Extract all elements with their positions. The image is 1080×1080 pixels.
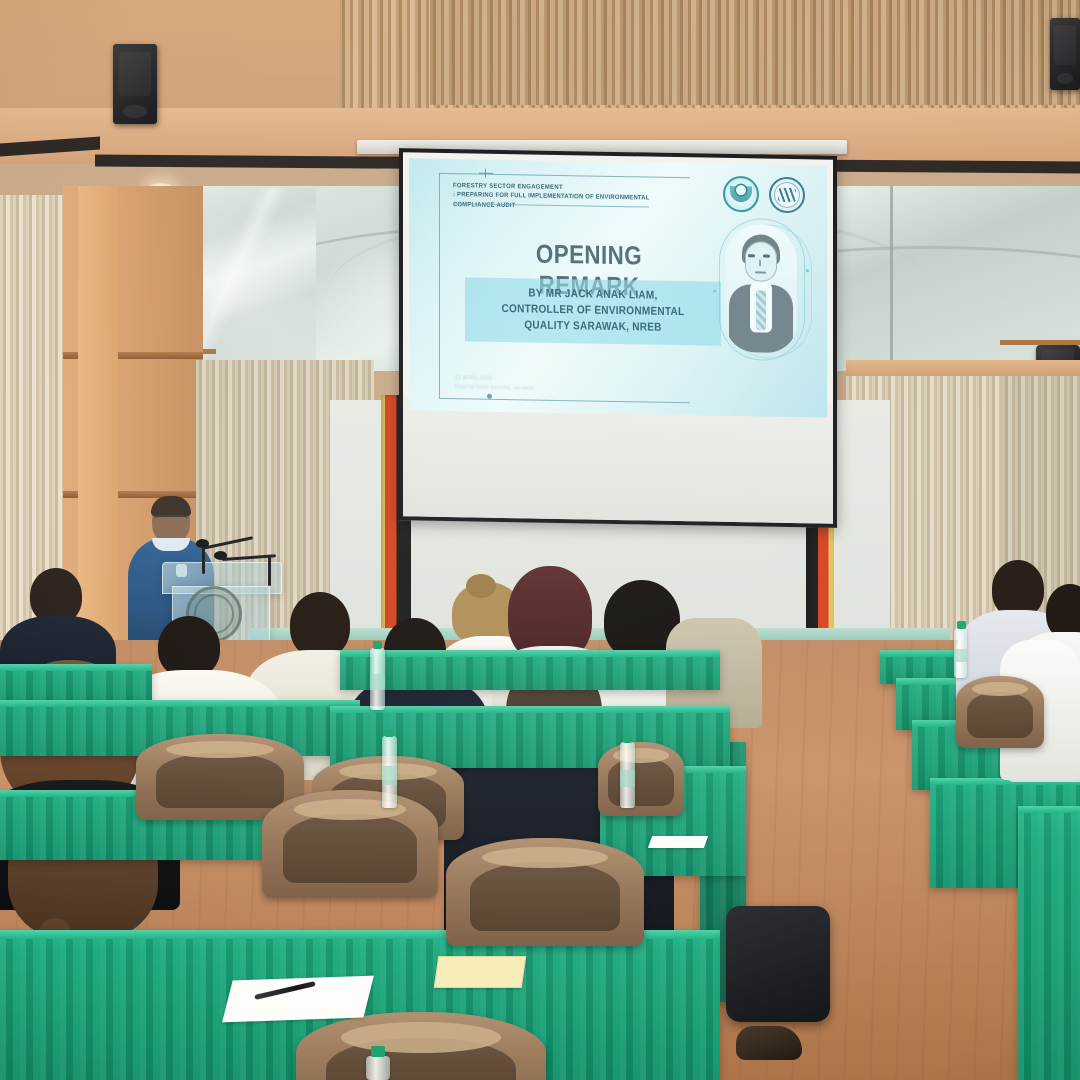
chair-row-b-1 [262,790,438,898]
forestry-dept-logo-icon [769,177,805,214]
slide-tick-top [479,173,493,174]
name-card[interactable] [434,956,526,988]
portrait-face [745,241,777,282]
microphone-gooseneck-2 [268,556,271,586]
ceiling-wood-slats-upper [430,0,1080,105]
speaker-bracket-right [1000,340,1080,345]
shoe [736,1026,802,1060]
water-bottle-4[interactable] [954,628,967,678]
portrait-mouth [755,271,766,273]
nreb-logo-icon [723,176,759,213]
chair-row-b-2 [446,838,644,946]
portrait-tie [756,290,766,330]
portrait-eye-right [763,255,770,258]
wall-speaker-top-right [1050,18,1080,90]
note-paper-2[interactable] [648,836,708,848]
water-bottle-3[interactable] [620,742,635,808]
portrait-illustration [725,224,797,353]
chair-row-a-3 [598,742,684,816]
slide-portrait [713,216,809,368]
note-paper[interactable] [222,976,374,1023]
water-bottle-1[interactable] [370,648,385,710]
microphone-gooseneck-1 [202,548,205,574]
table-row-right-5 [1018,806,1080,1080]
water-bottle-2[interactable] [382,736,397,808]
bag-on-floor [726,906,830,1022]
presenter-glasses [154,515,188,524]
microphone-head-1 [196,539,209,548]
pillar-left-inner [78,186,118,676]
microphone-head-2 [214,551,227,560]
slide-tick-top-v [485,169,486,178]
chair-foreground [296,1012,546,1080]
slide-tick-bottom [487,394,492,399]
conference-hall-photo: FORESTRY SECTOR ENGAGEMENT : PREPARING F… [0,0,1080,1080]
wall-speaker-top-left [113,44,157,124]
slide-speaker-box: BY MR JACK ANAK LIAM, CONTROLLER OF ENVI… [465,277,721,345]
slide-footer: 22 APRIL 2025 imperial hotel kuching, sa… [455,374,625,394]
presenter-hair [151,496,191,516]
portrait-accent-dot [806,269,809,272]
attendee-hair-bun-top [466,574,496,598]
table-mid-far [340,650,720,690]
portrait-eye-left [748,254,755,257]
chair-right-1 [956,676,1044,748]
presentation-slide: FORESTRY SECTOR ENGAGEMENT : PREPARING F… [409,158,827,417]
slide-header: FORESTRY SECTOR ENGAGEMENT : PREPARING F… [453,181,713,213]
portrait-nose [759,259,761,266]
wall-right-panel [846,360,1080,376]
attendee-head [290,592,350,658]
clerestory-glass-left [196,188,316,368]
water-bottle-5[interactable] [366,1056,390,1080]
slide-logo-group [723,176,805,213]
portrait-accent-dot [713,290,716,293]
projection-screen: FORESTRY SECTOR ENGAGEMENT : PREPARING F… [399,148,837,528]
attendee-head [158,616,220,678]
slide-speaker-line-3: QUALITY SARAWAK, NREB [484,317,702,337]
